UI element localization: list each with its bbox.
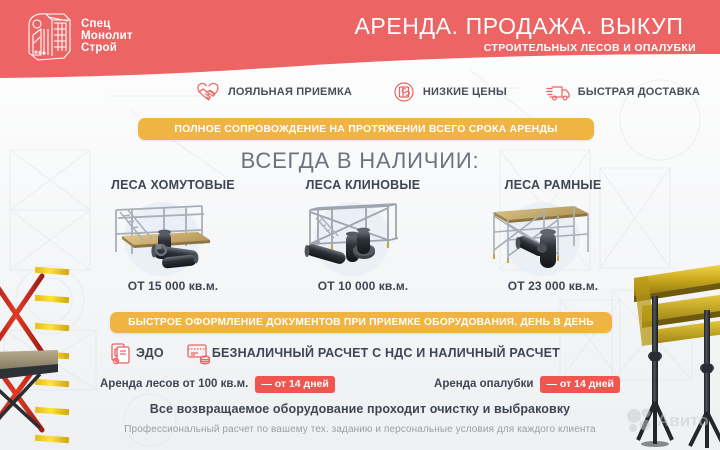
header-subtitle: СТРОИТЕЛЬНЫХ ЛЕСОВ И ОПАЛУБКИ	[330, 42, 708, 54]
product-card-frame[interactable]: ЛЕСА РАМНЫЕ	[458, 178, 648, 304]
brand-logo[interactable]: Спец Монолит Строй	[24, 9, 154, 65]
card-cash-icon	[186, 341, 212, 365]
feature-item-loyal-acceptance: ЛОЯЛЬНАЯ ПРИЕМКА	[196, 81, 352, 103]
product-price: ОТ 15 000 кв.м.	[128, 279, 218, 293]
term-badge: — от 14 дней	[540, 376, 620, 393]
product-card-clamp[interactable]: ЛЕСА ХОМУТОВЫЕ	[78, 178, 268, 304]
feature-item-fast-delivery: БЫСТРАЯ ДОСТАВКА	[546, 81, 700, 103]
brand-name: Спец Монолит Строй	[81, 19, 133, 54]
term-scaffold-rental: Аренда лесов от 100 кв.м. — от 14 дней	[100, 376, 335, 393]
header-title: АРЕНДА. ПРОДАЖА. ВЫКУП	[330, 13, 708, 40]
feature-label: БЫСТРАЯ ДОСТАВКА	[578, 86, 700, 98]
brand-line-3: Строй	[81, 43, 133, 55]
feature-item-low-prices: НИЗКИЕ ЦЕНЫ	[391, 81, 507, 103]
bottom-subtext: Профессиональный расчет по вашему тех. з…	[0, 424, 720, 435]
banner-root: Авито Спец Монолит Строй	[0, 0, 720, 450]
bottom-headline: Все возвращаемое оборудование проходит о…	[0, 402, 720, 416]
feature-label: ЛОЯЛЬНАЯ ПРИЕМКА	[228, 86, 352, 98]
product-title: ЛЕСА РАМНЫЕ	[505, 178, 602, 192]
clamp-scaffold-art	[98, 196, 248, 278]
edo-label: ЭДО	[136, 346, 164, 360]
support-banner: ПОЛНОЕ СОПРОВОЖДЕНИЕ НА ПРОТЯЖЕНИИ ВСЕГО…	[138, 118, 594, 140]
handshake-icon	[196, 81, 222, 103]
term-label: Аренда лесов от 100 кв.м.	[100, 378, 248, 390]
delivery-truck-icon	[546, 81, 572, 103]
section-heading: ВСЕГДА В НАЛИЧИИ:	[0, 148, 720, 174]
products-row: ЛЕСА ХОМУТОВЫЕ	[78, 178, 648, 304]
features-row: ЛОЯЛЬНАЯ ПРИЕМКА НИЗКИЕ ЦЕНЫ	[196, 77, 700, 107]
product-title: ЛЕСА КЛИНОВЫЕ	[306, 178, 421, 192]
feature-label: НИЗКИЕ ЦЕНЫ	[423, 86, 507, 98]
term-badge: — от 14 дней	[255, 376, 335, 393]
product-title: ЛЕСА ХОМУТОВЫЕ	[111, 178, 235, 192]
price-tag-icon	[391, 81, 417, 103]
payments-row: ЭДО БЕЗНАЛИЧНЫЙ РАСЧЕТ С НДС И НАЛИЧНЫЙ …	[110, 340, 610, 366]
term-formwork-rental: Аренда опалубки — от 14 дней	[434, 376, 620, 393]
product-price: ОТ 23 000 кв.м.	[508, 279, 598, 293]
terms-row: Аренда лесов от 100 кв.м. — от 14 дней А…	[100, 374, 620, 394]
frame-scaffold-art	[478, 196, 628, 278]
cash-label: БЕЗНАЛИЧНЫЙ РАСЧЕТ С НДС И НАЛИЧНЫЙ РАСЧ…	[212, 346, 560, 360]
documents-exchange-icon	[110, 341, 136, 365]
wedge-scaffold-art	[288, 196, 438, 278]
product-price: ОТ 10 000 кв.м.	[318, 279, 408, 293]
product-card-wedge[interactable]: ЛЕСА КЛИНОВЫЕ	[268, 178, 458, 304]
building-crane-logo-icon	[24, 11, 74, 63]
documents-banner: БЫСТРОЕ ОФОРМЛЕНИЕ ДОКУМЕНТОВ ПРИ ПРИЕМК…	[110, 312, 612, 333]
term-label: Аренда опалубки	[434, 378, 533, 390]
